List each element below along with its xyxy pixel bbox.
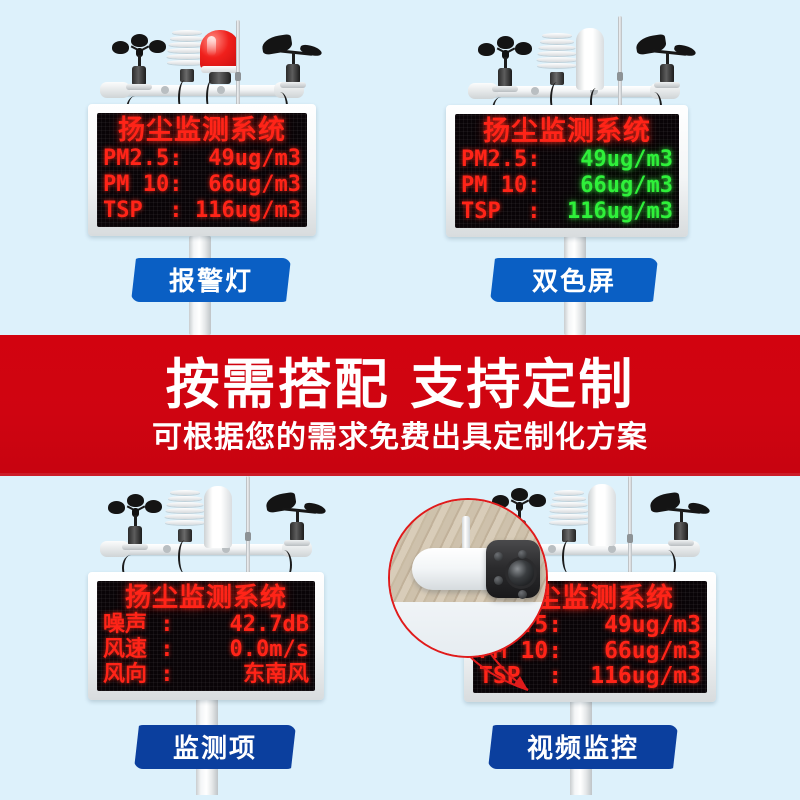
badge-dual-color-screen[interactable]: 双色屏 [490, 258, 658, 302]
callout-lens-circle [388, 498, 548, 658]
led-key: TSP : [461, 201, 540, 223]
badge-video-surveillance[interactable]: 视频监控 [488, 725, 678, 769]
noise-sensor-icon [204, 486, 232, 548]
led-value: 49ug/m3 [604, 614, 701, 637]
led-row: PM2.5: 49ug/m3 [461, 149, 673, 171]
led-key: PM2.5: [103, 148, 182, 170]
led-row: 风速 : 0.0m/s [103, 639, 309, 661]
bottom-strip [0, 795, 800, 800]
promo-banner: 按需搭配 支持定制 可根据您的需求免费出具定制化方案 [0, 335, 800, 476]
led-row: TSP : 116ug/m3 [461, 201, 673, 223]
banner-headline: 按需搭配 支持定制 [166, 357, 635, 414]
led-row: TSP : 116ug/m3 [103, 200, 301, 222]
led-key: 噪声 : [103, 614, 174, 636]
sensor-cable [562, 540, 576, 574]
led-value: 49ug/m3 [580, 149, 673, 171]
led-display-dual-color: 扬尘监测系统 PM2.5: 49ug/m3 PM 10: 66ug/m3 TSP… [446, 105, 688, 237]
led-value: 116ug/m3 [195, 200, 301, 222]
led-display-alarm: 扬尘监测系统 PM2.5: 49ug/m3 PM 10: 66ug/m3 TSP… [88, 104, 316, 236]
radiation-shield-icon [548, 490, 590, 542]
led-value: 42.7dB [230, 614, 309, 636]
product-feature-poster: 扬尘监测系统 PM2.5: 49ug/m3 PM 10: 66ug/m3 TSP… [0, 0, 800, 800]
led-key: PM 10: [103, 174, 182, 196]
led-value: 116ug/m3 [590, 665, 701, 688]
alarm-beacon-icon [200, 30, 240, 84]
led-key: TSP : [103, 200, 182, 222]
led-row: PM 10: 66ug/m3 [103, 174, 301, 196]
led-row: 风向 : 东南风 [103, 664, 309, 686]
callout-background-floor [388, 602, 548, 658]
anemometer-icon [108, 494, 162, 550]
anemometer-icon [478, 36, 532, 92]
camera-lens-icon [508, 560, 534, 586]
noise-sensor-icon [588, 484, 616, 546]
led-key: 风速 : [103, 639, 174, 661]
wind-vane-icon [650, 490, 712, 546]
led-value: 66ug/m3 [604, 640, 701, 663]
radiation-shield-icon [164, 490, 206, 542]
led-row: 噪声 : 42.7dB [103, 614, 309, 636]
led-key: PM2.5: [461, 149, 540, 171]
led-value: 东南风 [243, 664, 309, 686]
led-key: 风向 : [103, 664, 174, 686]
noise-sensor-icon [576, 28, 604, 90]
camera-ir-led-icon [518, 550, 527, 559]
led-value: 116ug/m3 [567, 201, 673, 223]
led-title: 扬尘监测系统 [461, 118, 673, 145]
camera-ir-led-icon [494, 552, 503, 561]
led-display-monitor-items: 扬尘监测系统 噪声 : 42.7dB 风速 : 0.0m/s 风向 : 东南风 [88, 572, 324, 700]
led-value: 66ug/m3 [580, 175, 673, 197]
camera-mount-bracket [462, 516, 470, 550]
product-variant-dual-color-screen: 扬尘监测系统 PM2.5: 49ug/m3 PM 10: 66ug/m3 TSP… [400, 0, 800, 335]
led-value: 66ug/m3 [208, 174, 301, 196]
product-variant-monitor-items: 扬尘监测系统 噪声 : 42.7dB 风速 : 0.0m/s 风向 : 东南风 … [0, 476, 400, 800]
banner-subtitle: 可根据您的需求免费出具定制化方案 [152, 421, 648, 454]
led-row: PM 10: 66ug/m3 [461, 175, 673, 197]
badge-monitor-items[interactable]: 监测项 [134, 725, 296, 769]
led-title: 扬尘监测系统 [103, 585, 309, 611]
badge-alarm-lamp[interactable]: 报警灯 [131, 258, 291, 302]
led-value: 0.0m/s [230, 639, 309, 661]
product-variant-alarm-lamp: 扬尘监测系统 PM2.5: 49ug/m3 PM 10: 66ug/m3 TSP… [0, 0, 400, 335]
radiation-shield-icon [536, 33, 578, 85]
led-key: PM 10: [461, 175, 540, 197]
camera-ir-led-icon [494, 576, 503, 585]
led-row: PM2.5: 49ug/m3 [103, 148, 301, 170]
camera-callout [388, 498, 548, 658]
wind-vane-icon [636, 32, 698, 88]
sensor-cable [178, 540, 192, 574]
led-value: 49ug/m3 [208, 148, 301, 170]
wind-vane-icon [266, 490, 328, 546]
led-title: 扬尘监测系统 [103, 117, 301, 144]
anemometer-icon [112, 34, 166, 90]
wind-vane-icon [262, 32, 324, 88]
camera-ir-led-icon [518, 590, 527, 599]
